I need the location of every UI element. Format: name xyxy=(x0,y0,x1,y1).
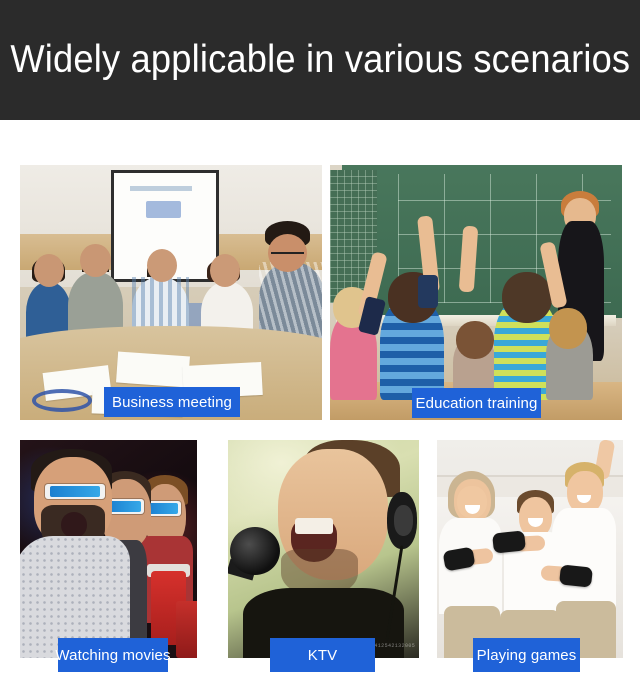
scenario-card-education-training[interactable]: Education training xyxy=(330,165,622,420)
page-title: Widely applicable in various scenarios xyxy=(10,38,630,82)
caption-playing-games: Playing games xyxy=(473,638,580,672)
watching-movies-photo xyxy=(20,440,197,658)
header-banner: Widely applicable in various scenarios xyxy=(0,0,640,120)
education-training-photo xyxy=(330,165,622,420)
caption-business-meeting: Business meeting xyxy=(104,387,240,417)
ktv-photo: 3412542132005 xyxy=(228,440,419,658)
page-root: Widely applicable in various scenarios B… xyxy=(0,0,640,678)
scenario-card-playing-games[interactable]: Playing games xyxy=(437,440,623,658)
caption-watching-movies: Watching movies xyxy=(58,638,168,672)
scenario-card-watching-movies[interactable]: Watching movies xyxy=(20,440,197,658)
scenario-card-business-meeting[interactable]: Business meeting xyxy=(20,165,322,420)
playing-games-photo xyxy=(437,440,623,658)
caption-ktv: KTV xyxy=(270,638,375,672)
business-meeting-photo xyxy=(20,165,322,420)
caption-education-training: Education training xyxy=(412,388,541,418)
scenario-card-ktv[interactable]: 3412542132005 KTV xyxy=(228,440,419,658)
ktv-watermark: 3412542132005 xyxy=(371,643,415,649)
